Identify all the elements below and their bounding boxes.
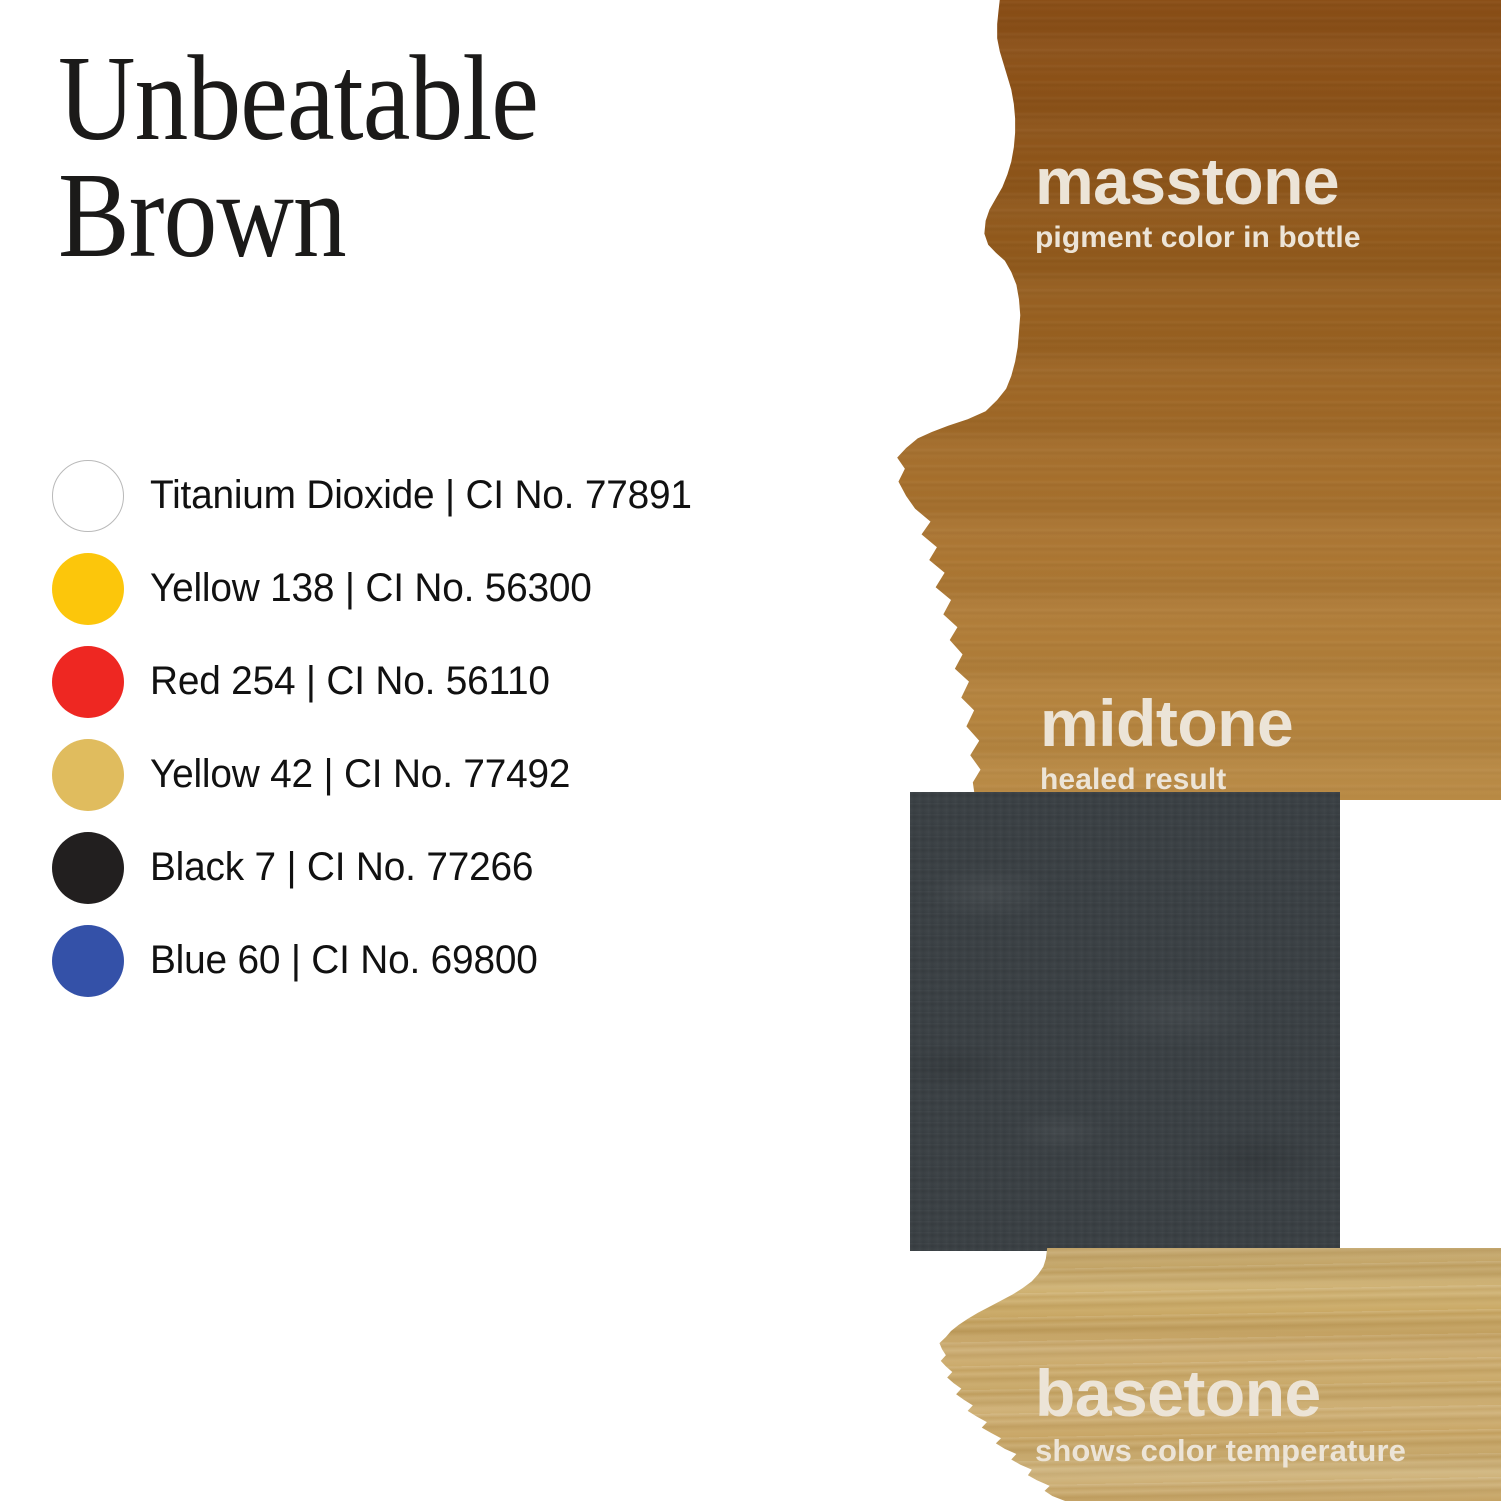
paint-swatch-column: masstone pigment color in bottle midtone…: [860, 0, 1501, 1501]
list-item: Titanium Dioxide | CI No. 77891: [52, 449, 892, 542]
pigment-label: Yellow 42 | CI No. 77492: [150, 752, 570, 797]
pigment-swatch-dot: [52, 925, 124, 997]
page-title: Unbeatable Brown: [58, 40, 780, 274]
basetone-subtitle: shows color temperature: [1035, 1435, 1406, 1466]
masstone-label-group: masstone pigment color in bottle: [1035, 148, 1361, 253]
pigment-label: Yellow 138 | CI No. 56300: [150, 566, 592, 611]
basetone-label-group: basetone shows color temperature: [1035, 1360, 1406, 1466]
pigment-swatch-dot: [52, 832, 124, 904]
page-title-line-2: Brown: [58, 157, 780, 274]
pigment-swatch-dot: [52, 553, 124, 625]
page-title-line-1: Unbeatable: [58, 40, 780, 157]
list-item: Yellow 138 | CI No. 56300: [52, 542, 892, 635]
midtone-title: midtone: [1040, 690, 1293, 756]
pigment-label: Titanium Dioxide | CI No. 77891: [150, 473, 692, 518]
list-item: Red 254 | CI No. 56110: [52, 635, 892, 728]
left-content-column: Unbeatable Brown Titanium Dioxide | CI N…: [0, 0, 900, 1501]
list-item: Blue 60 | CI No. 69800: [52, 914, 892, 1007]
masstone-subtitle: pigment color in bottle: [1035, 223, 1361, 253]
masstone-midtone-swatch: [860, 0, 1501, 800]
pigment-label: Blue 60 | CI No. 69800: [150, 938, 538, 983]
midtone-label-group: midtone healed result: [1040, 690, 1293, 795]
masstone-title: masstone: [1035, 148, 1361, 214]
pigment-label: Red 254 | CI No. 56110: [150, 659, 550, 704]
poster-canvas: Unbeatable Brown Titanium Dioxide | CI N…: [0, 0, 1501, 1501]
list-item: Black 7 | CI No. 77266: [52, 821, 892, 914]
list-item: Yellow 42 | CI No. 77492: [52, 728, 892, 821]
pigment-swatch-dot: [52, 646, 124, 718]
pigment-swatch-dot: [52, 460, 124, 532]
dark-block-grain: [910, 792, 1340, 1251]
pigment-swatch-dot: [52, 739, 124, 811]
pigment-list: Titanium Dioxide | CI No. 77891 Yellow 1…: [52, 449, 892, 1007]
dark-contrast-block: [910, 792, 1340, 1251]
pigment-label: Black 7 | CI No. 77266: [150, 845, 533, 890]
basetone-title: basetone: [1035, 1360, 1406, 1426]
midtone-subtitle: healed result: [1040, 765, 1293, 795]
